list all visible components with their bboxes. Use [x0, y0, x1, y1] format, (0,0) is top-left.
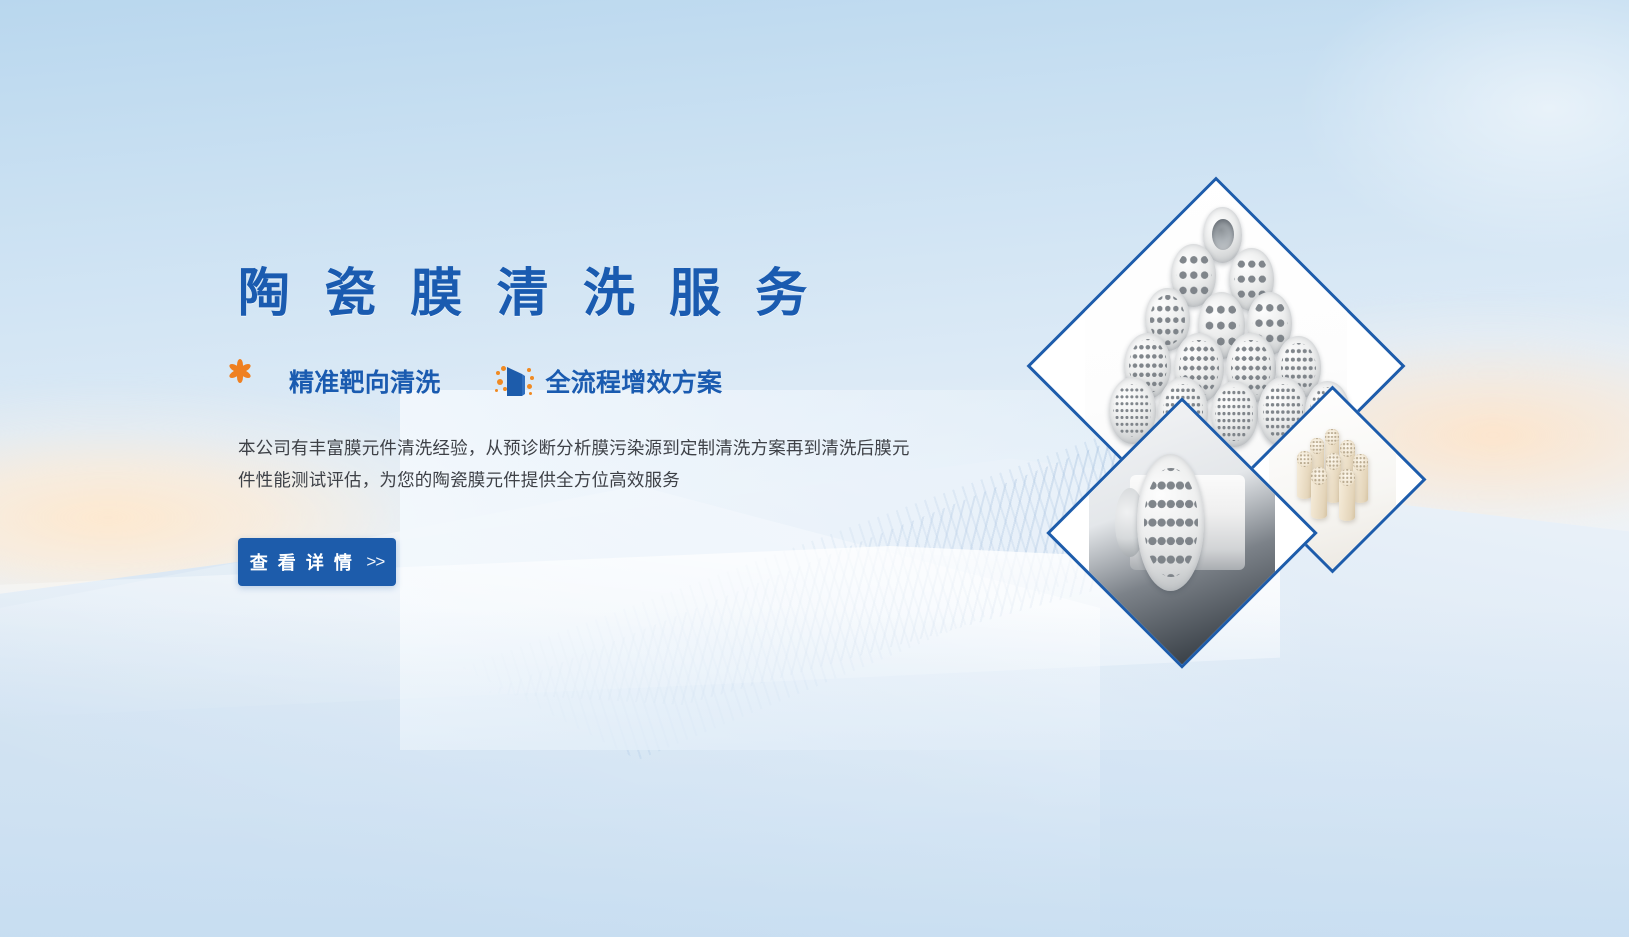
feature-label: 精准靶向清洗	[289, 363, 441, 399]
hero-description: 本公司有丰富膜元件清洗经验，从预诊断分析膜污染源到定制清洗方案再到清洗后膜元件性…	[238, 432, 918, 496]
flag-dots-icon	[495, 362, 533, 400]
pinwheel-icon	[238, 362, 276, 400]
chevron-right-icon: >>	[366, 552, 384, 572]
feature-item-precision-cleaning: 精准靶向清洗	[238, 362, 441, 400]
view-details-button[interactable]: 查 看 详 情 >>	[238, 538, 396, 586]
feature-item-full-process-solution: 全流程增效方案	[495, 362, 723, 400]
page-title: 陶 瓷 膜 清 洗 服 务	[238, 268, 817, 320]
view-details-label: 查 看 详 情	[250, 549, 355, 575]
feature-label: 全流程增效方案	[546, 363, 723, 399]
feature-list: 精准靶向清洗 全流程增效	[238, 362, 722, 400]
hero-content: 陶 瓷 膜 清 洗 服 务 精准靶向清洗	[238, 0, 998, 937]
hero-banner: 陶 瓷 膜 清 洗 服 务 精准靶向清洗	[0, 0, 1629, 937]
